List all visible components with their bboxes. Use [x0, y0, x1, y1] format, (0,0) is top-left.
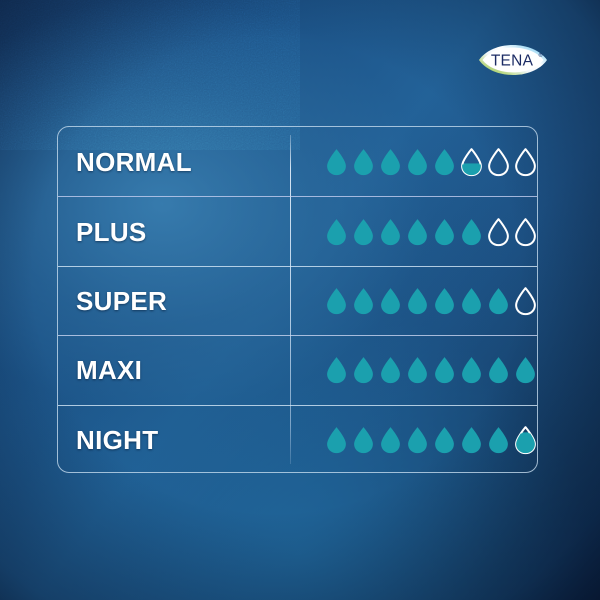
water-drop-partial-icon: [460, 147, 483, 177]
tena-logo-text: TENA: [491, 53, 534, 70]
water-drop-full-icon: [325, 355, 348, 385]
water-drop-full-icon: [352, 147, 375, 177]
water-drop-full-icon: [352, 217, 375, 247]
water-drop-empty-icon: [514, 147, 537, 177]
water-drop-full-icon: [325, 147, 348, 177]
water-drop-full-icon: [325, 425, 348, 455]
water-drop-full-icon: [514, 355, 537, 385]
water-drop-full-icon: [325, 286, 348, 316]
water-drop-full-icon: [379, 217, 402, 247]
row-label-maxi: MAXI: [58, 357, 289, 383]
water-drop-full-icon: [460, 286, 483, 316]
water-drop-full-icon: [433, 355, 456, 385]
table-row: NORMAL: [58, 127, 537, 196]
water-drop-partial-icon: [514, 425, 537, 455]
water-drop-full-icon: [379, 147, 402, 177]
row-drops-super: [289, 286, 537, 316]
table-row: NIGHT: [58, 405, 537, 474]
water-drop-full-icon: [433, 425, 456, 455]
water-drop-full-icon: [460, 355, 483, 385]
water-drop-full-icon: [460, 217, 483, 247]
water-drop-full-icon: [406, 217, 429, 247]
water-drop-full-icon: [352, 355, 375, 385]
row-drops-normal: [289, 147, 537, 177]
water-drop-full-icon: [433, 147, 456, 177]
row-drops-night: [289, 425, 537, 455]
water-drop-full-icon: [379, 425, 402, 455]
water-drop-full-icon: [379, 286, 402, 316]
water-drop-full-icon: [487, 425, 510, 455]
water-drop-full-icon: [487, 286, 510, 316]
water-drop-full-icon: [433, 286, 456, 316]
water-drop-full-icon: [406, 147, 429, 177]
tena-logo-trademark-icon: ®: [539, 52, 543, 59]
water-drop-full-icon: [379, 355, 402, 385]
absorbency-chart-screen: TENA ® NORMAL PLUS SUPER MAXI NIGHT: [0, 0, 600, 600]
table-row: MAXI: [58, 335, 537, 404]
row-label-normal: NORMAL: [58, 149, 289, 175]
row-drops-maxi: [289, 355, 537, 385]
water-drop-empty-icon: [514, 286, 537, 316]
water-drop-full-icon: [352, 425, 375, 455]
water-drop-full-icon: [406, 425, 429, 455]
water-drop-full-icon: [352, 286, 375, 316]
absorbency-levels-table: NORMAL PLUS SUPER MAXI NIGHT: [57, 126, 538, 473]
water-drop-full-icon: [325, 217, 348, 247]
water-drop-empty-icon: [487, 147, 510, 177]
row-drops-plus: [289, 217, 537, 247]
tena-logo: TENA ®: [478, 39, 548, 81]
table-row: SUPER: [58, 266, 537, 335]
row-label-super: SUPER: [58, 288, 289, 314]
row-label-night: NIGHT: [58, 427, 289, 453]
water-drop-full-icon: [406, 355, 429, 385]
water-drop-full-icon: [433, 217, 456, 247]
water-drop-full-icon: [406, 286, 429, 316]
water-drop-empty-icon: [514, 217, 537, 247]
row-label-plus: PLUS: [58, 219, 289, 245]
water-drop-full-icon: [460, 425, 483, 455]
water-drop-full-icon: [487, 355, 510, 385]
table-row: PLUS: [58, 196, 537, 265]
water-drop-empty-icon: [487, 217, 510, 247]
